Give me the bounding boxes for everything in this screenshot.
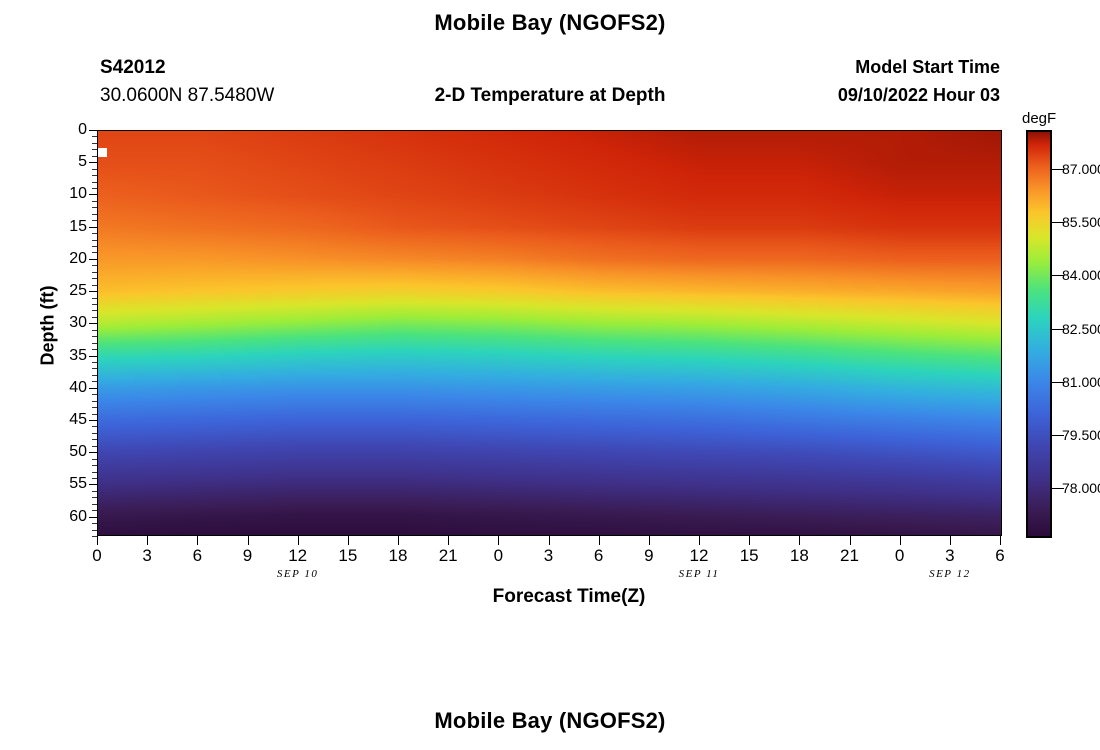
y-axis-minor-tick: [92, 381, 97, 382]
y-axis-minor-tick: [92, 169, 97, 170]
y-axis-minor-tick: [92, 472, 97, 473]
x-axis-tick-label: 3: [529, 546, 569, 566]
x-axis-tick-label: 15: [328, 546, 368, 566]
y-axis-minor-tick: [92, 330, 97, 331]
x-axis-title-text: Forecast Time(Z): [455, 586, 646, 607]
x-axis-tick: [599, 536, 600, 545]
x-axis-tick: [448, 536, 449, 545]
y-axis-minor-tick: [92, 252, 97, 253]
y-axis-minor-tick: [92, 285, 97, 286]
x-axis-tick-label: 0: [77, 546, 117, 566]
y-axis-tick: [89, 388, 97, 389]
y-axis-minor-tick: [92, 407, 97, 408]
x-axis-tick: [649, 536, 650, 545]
y-axis-minor-tick: [92, 394, 97, 395]
x-axis-date-label: SEP 10: [253, 568, 343, 580]
colorbar-tick-label: 85.500: [1062, 214, 1100, 230]
colorbar-tick-label: 81.000: [1062, 374, 1100, 390]
x-axis-tick: [799, 536, 800, 545]
x-axis-tick: [197, 536, 198, 545]
y-axis-tick: [89, 259, 97, 260]
y-axis-minor-tick: [92, 304, 97, 305]
station-id: S42012: [100, 57, 166, 79]
x-axis-title: Forecast Time(Z): [0, 586, 1100, 608]
y-axis-minor-tick: [92, 478, 97, 479]
y-axis-minor-tick: [92, 317, 97, 318]
x-axis-tick: [950, 536, 951, 545]
y-axis-minor-tick: [92, 491, 97, 492]
y-axis-minor-tick: [92, 368, 97, 369]
x-axis-tick: [850, 536, 851, 545]
y-axis-minor-tick: [92, 401, 97, 402]
y-axis-minor-tick: [92, 310, 97, 311]
y-axis-tick: [89, 484, 97, 485]
y-axis-minor-tick: [92, 510, 97, 511]
y-axis-minor-tick: [92, 530, 97, 531]
colorbar-tick-label: 87.000: [1062, 161, 1100, 177]
y-axis-ticks: [89, 130, 97, 536]
y-axis-tick-label: 0: [47, 121, 87, 139]
y-axis-minor-tick: [92, 439, 97, 440]
y-axis-tick-label: 55: [47, 475, 87, 493]
x-axis-tick-label: 6: [579, 546, 619, 566]
x-axis-date-label: SEP 11: [654, 568, 744, 580]
colorbar-tick-label: 79.500: [1062, 427, 1100, 443]
x-axis-date-labels: SEP 10SEP 11SEP 12: [97, 568, 1002, 586]
y-axis-tick: [89, 291, 97, 292]
y-axis-tick: [89, 517, 97, 518]
y-axis-minor-tick: [92, 446, 97, 447]
y-axis-tick-label: 10: [47, 185, 87, 203]
x-axis-tick-label: 18: [779, 546, 819, 566]
y-axis-minor-tick: [92, 149, 97, 150]
colorbar: [1026, 130, 1052, 538]
x-axis-tick: [498, 536, 499, 545]
model-start-time-value: 09/10/2022 Hour 03: [838, 85, 1000, 106]
x-axis-tick: [749, 536, 750, 545]
x-axis-tick-label: 6: [980, 546, 1020, 566]
colorbar-gradient: [1028, 132, 1050, 536]
y-axis-minor-tick: [92, 426, 97, 427]
colorbar-tick-label: 82.500: [1062, 321, 1100, 337]
y-axis-minor-tick: [92, 207, 97, 208]
x-axis-tick-label: 21: [830, 546, 870, 566]
y-axis-minor-tick: [92, 182, 97, 183]
y-axis-minor-tick: [92, 465, 97, 466]
x-axis-tick: [900, 536, 901, 545]
y-axis-minor-tick: [92, 349, 97, 350]
x-axis-tick-label: 12: [679, 546, 719, 566]
bottom-title: Mobile Bay (NGOFS2): [0, 708, 1100, 734]
y-axis-minor-tick: [92, 278, 97, 279]
page-title: Mobile Bay (NGOFS2): [0, 10, 1100, 36]
y-axis-minor-tick: [92, 362, 97, 363]
y-axis-tick: [89, 194, 97, 195]
x-axis-tick-label: 6: [177, 546, 217, 566]
y-axis-tick-label: 50: [47, 443, 87, 461]
y-axis-tick: [89, 356, 97, 357]
y-axis-minor-tick: [92, 343, 97, 344]
surface-depth-marker: [98, 148, 107, 157]
y-axis-minor-tick: [92, 201, 97, 202]
y-axis-minor-tick: [92, 433, 97, 434]
x-axis-tick: [248, 536, 249, 545]
y-axis-minor-tick: [92, 272, 97, 273]
y-axis-tick: [89, 162, 97, 163]
y-axis-minor-tick: [92, 504, 97, 505]
model-start-time-label: Model Start Time: [855, 57, 1000, 78]
heatmap-plot-area: [97, 130, 1002, 536]
colorbar-tick-label: 84.000: [1062, 267, 1100, 283]
y-axis-tick-label: 15: [47, 218, 87, 236]
y-axis-tick: [89, 227, 97, 228]
x-axis-tick-label: 0: [880, 546, 920, 566]
x-axis-tick: [147, 536, 148, 545]
y-axis-minor-tick: [92, 233, 97, 234]
x-axis-tick-label: 9: [629, 546, 669, 566]
x-axis-tick-label: 3: [930, 546, 970, 566]
y-axis-minor-tick: [92, 414, 97, 415]
x-axis-tick-label: 18: [378, 546, 418, 566]
x-axis-tick-label: 9: [228, 546, 268, 566]
y-axis-tick-label: 5: [47, 153, 87, 171]
x-axis-tick: [1000, 536, 1001, 545]
y-axis-minor-tick: [92, 188, 97, 189]
x-axis-tick: [549, 536, 550, 545]
y-axis-minor-tick: [92, 136, 97, 137]
y-axis-minor-tick: [92, 156, 97, 157]
x-axis-date-label: SEP 12: [905, 568, 995, 580]
x-axis-tick: [97, 536, 98, 545]
y-axis-minor-tick: [92, 214, 97, 215]
y-axis-minor-tick: [92, 336, 97, 337]
y-axis-minor-tick: [92, 459, 97, 460]
y-axis-minor-tick: [92, 175, 97, 176]
y-axis-title: Depth (ft): [38, 256, 59, 396]
x-axis-tick-labels: 036912151821036912151821036: [97, 546, 1002, 570]
colorbar-tick-labels: 87.00085.50084.00082.50081.00079.50078.0…: [1062, 130, 1100, 538]
y-axis-tick-label: 60: [47, 508, 87, 526]
x-axis-tick: [398, 536, 399, 545]
x-axis-tick-label: 3: [127, 546, 167, 566]
x-axis-tick-label: 0: [478, 546, 518, 566]
y-axis-minor-tick: [92, 220, 97, 221]
x-axis-tick-label: 15: [729, 546, 769, 566]
y-axis-tick: [89, 420, 97, 421]
y-axis-tick: [89, 130, 97, 131]
temperature-heatmap: [98, 131, 1001, 535]
y-axis-minor-tick: [92, 497, 97, 498]
y-axis-minor-tick: [92, 240, 97, 241]
y-axis-minor-tick: [92, 143, 97, 144]
x-axis-tick-label: 21: [428, 546, 468, 566]
y-axis-minor-tick: [92, 298, 97, 299]
y-axis-tick: [89, 452, 97, 453]
y-axis-minor-tick: [92, 265, 97, 266]
y-axis-minor-tick: [92, 246, 97, 247]
colorbar-tick-label: 78.000: [1062, 480, 1100, 496]
x-axis-tick-label: 12: [278, 546, 318, 566]
x-axis-tick: [298, 536, 299, 545]
y-axis-tick: [89, 323, 97, 324]
y-axis-minor-tick: [92, 523, 97, 524]
x-axis-tick: [348, 536, 349, 545]
x-axis-ticks: [97, 536, 1002, 545]
y-axis-tick-label: 45: [47, 411, 87, 429]
x-axis-tick: [699, 536, 700, 545]
colorbar-unit-label: degF: [1022, 110, 1056, 127]
y-axis-minor-tick: [92, 375, 97, 376]
